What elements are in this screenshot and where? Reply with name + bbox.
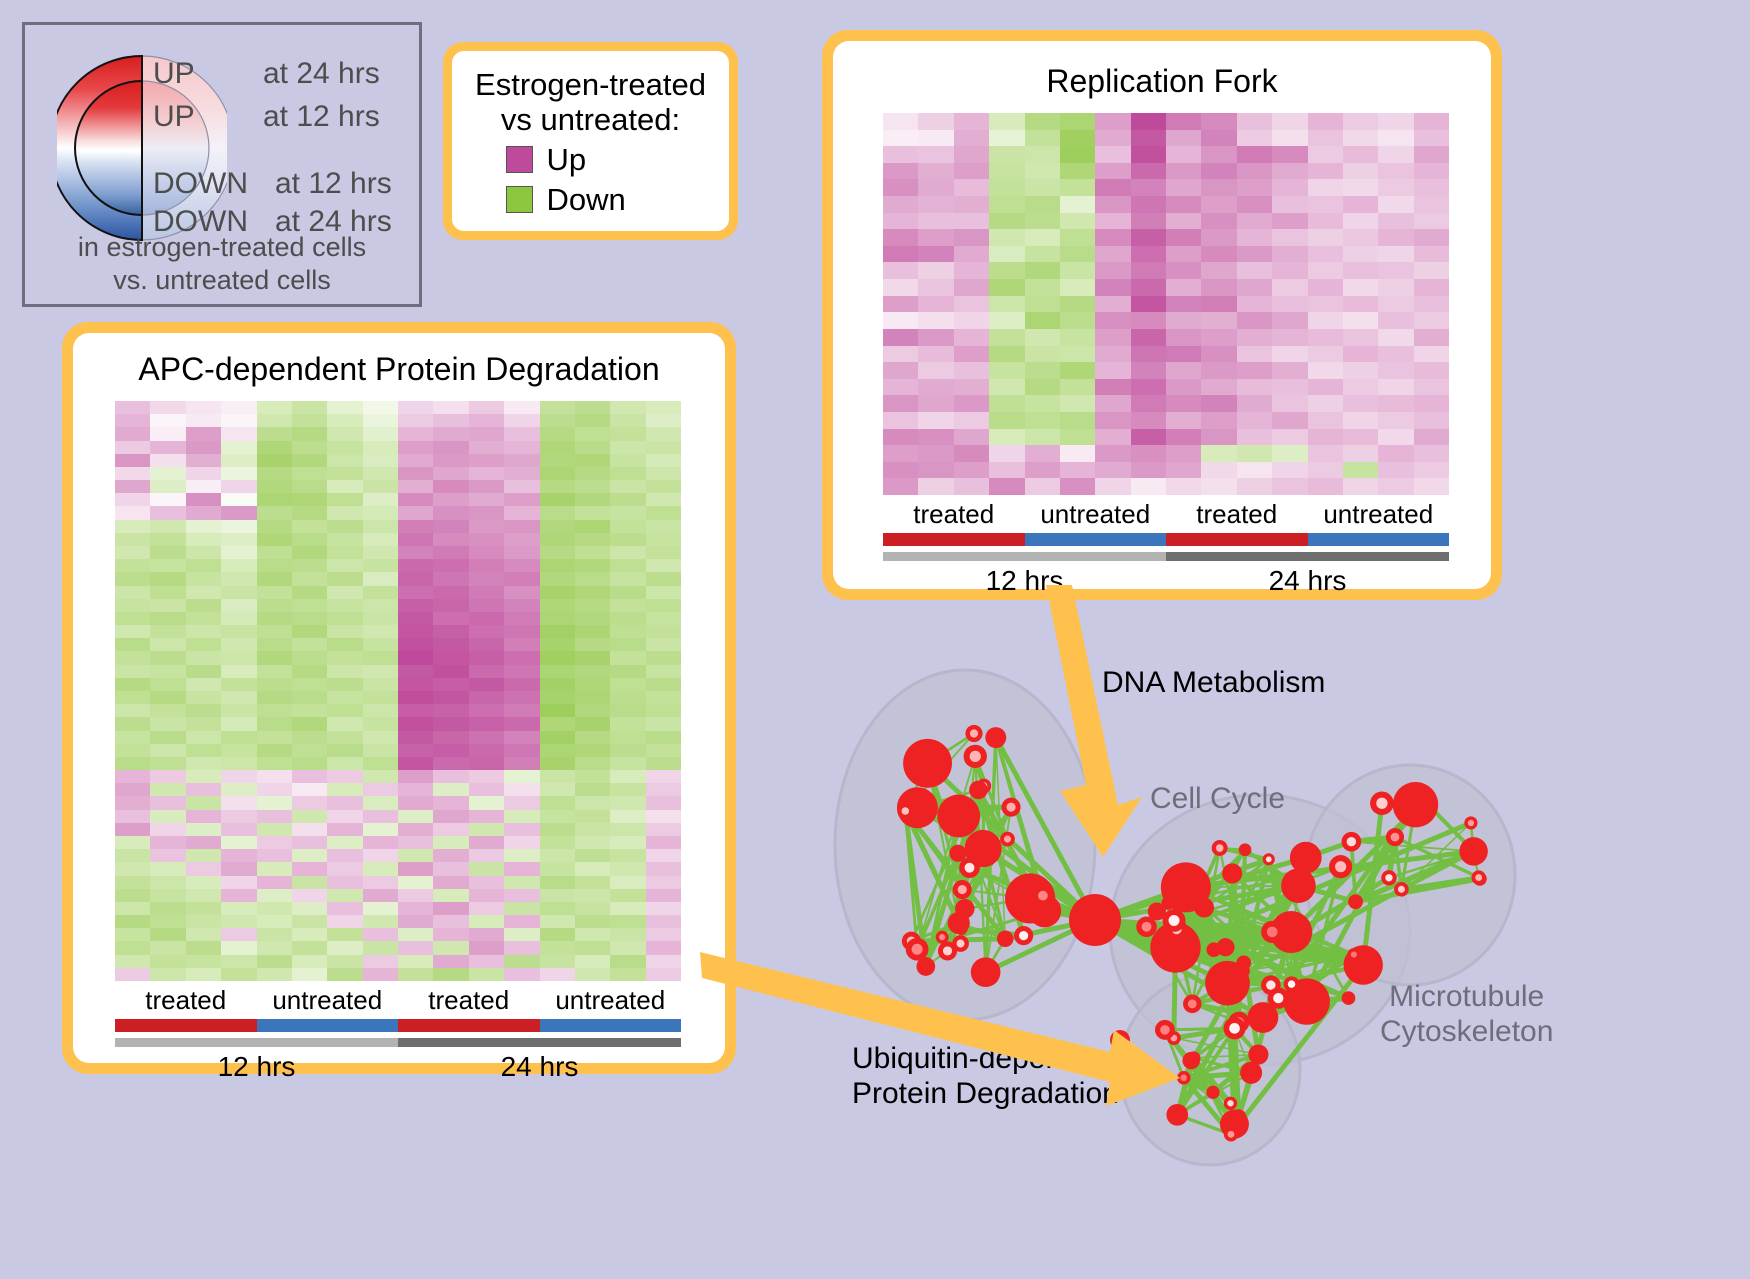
key-state-2: DOWN <box>153 167 248 201</box>
expression-key-legend: UP at 24 hrs UP at 12 hrs DOWN at 12 hrs… <box>22 22 422 307</box>
time-bar-apc <box>115 1038 681 1047</box>
network-node[interactable] <box>1464 816 1477 829</box>
network-node[interactable] <box>1261 921 1283 943</box>
condition-labels-replication-fork: treateduntreatedtreateduntreated <box>883 499 1449 530</box>
network-node[interactable] <box>1291 926 1309 944</box>
condition-label: treated <box>115 985 257 1016</box>
time-label: 12 hrs <box>115 1051 398 1083</box>
up-swatch-icon <box>506 146 533 173</box>
condition-label: treated <box>1166 499 1308 530</box>
network-node[interactable] <box>1290 842 1322 874</box>
time-label: 24 hrs <box>398 1051 681 1083</box>
condition-label: untreated <box>540 985 682 1016</box>
condition-color-bar <box>1025 533 1167 546</box>
down-label: Down <box>547 182 626 218</box>
condition-bar-replication-fork <box>883 533 1449 546</box>
time-color-bar <box>115 1038 398 1047</box>
time-color-bar <box>398 1038 681 1047</box>
arrow-apc-to-network <box>700 930 1230 1110</box>
condition-color-bar <box>1308 533 1450 546</box>
network-node[interactable] <box>1248 1044 1268 1064</box>
key-time-1: at 12 hrs <box>263 100 380 134</box>
network-node[interactable] <box>1235 964 1250 979</box>
time-color-bar <box>1166 552 1449 561</box>
network-node[interactable] <box>1179 896 1192 909</box>
time-color-bar <box>883 552 1166 561</box>
network-node[interactable] <box>1386 828 1404 846</box>
key-footer-line1: in estrogen-treated cells <box>25 231 419 264</box>
network-node[interactable] <box>1394 882 1409 897</box>
condition-bar-apc <box>115 1019 681 1032</box>
condition-color-bar <box>540 1019 682 1032</box>
network-node[interactable] <box>1471 870 1485 884</box>
network-node[interactable] <box>1231 1109 1247 1125</box>
updown-title-line1: Estrogen-treated <box>475 68 706 103</box>
network-node[interactable] <box>1370 791 1394 815</box>
network-node[interactable] <box>1240 1062 1262 1084</box>
network-node[interactable] <box>1194 898 1214 918</box>
network-node[interactable] <box>1263 853 1275 865</box>
condition-label: untreated <box>257 985 399 1016</box>
network-node[interactable] <box>1163 909 1186 932</box>
key-footer: in estrogen-treated cells vs. untreated … <box>25 231 419 297</box>
network-node[interactable] <box>1284 976 1300 992</box>
condition-color-bar <box>1166 533 1308 546</box>
network-node[interactable] <box>1342 832 1362 852</box>
network-node[interactable] <box>903 739 952 788</box>
network-node[interactable] <box>1381 870 1396 885</box>
network-node[interactable] <box>1268 987 1289 1008</box>
heatmap-apc <box>115 401 681 981</box>
condition-color-bar <box>257 1019 399 1032</box>
condition-label: treated <box>883 499 1025 530</box>
network-node[interactable] <box>1329 855 1352 878</box>
network-node[interactable] <box>1281 868 1316 903</box>
key-time-0: at 24 hrs <box>263 57 380 91</box>
network-node[interactable] <box>1033 886 1053 906</box>
network-node[interactable] <box>1418 794 1431 807</box>
legend-item-down: Down <box>506 182 676 218</box>
network-node[interactable] <box>1459 837 1487 865</box>
panel-title-apc: APC-dependent Protein Degradation <box>73 351 725 388</box>
condition-label: treated <box>398 985 540 1016</box>
time-bar-replication-fork <box>883 552 1449 561</box>
network-node[interactable] <box>1342 991 1356 1005</box>
up-down-legend: Estrogen-treated vs untreated: Up Down <box>443 42 738 240</box>
condition-color-bar <box>115 1019 257 1032</box>
condition-color-bar <box>883 533 1025 546</box>
network-node[interactable] <box>1224 1127 1238 1141</box>
network-node[interactable] <box>898 803 914 819</box>
key-state-1: UP <box>153 100 195 134</box>
network-node[interactable] <box>1347 948 1360 961</box>
network-node[interactable] <box>1161 897 1174 910</box>
panel-apc-degradation: APC-dependent Protein Degradation treate… <box>62 322 736 1074</box>
down-swatch-icon <box>506 186 533 213</box>
condition-label: untreated <box>1025 499 1167 530</box>
updown-title-line2: vs untreated: <box>475 103 706 138</box>
network-node[interactable] <box>1348 894 1363 909</box>
network-node[interactable] <box>1393 782 1438 827</box>
condition-color-bar <box>398 1019 540 1032</box>
key-time-2: at 12 hrs <box>275 167 392 201</box>
heatmap-replication-fork <box>883 113 1449 495</box>
panel-title-replication-fork: Replication Fork <box>833 63 1491 100</box>
arrow-replication-fork-to-network <box>960 585 1260 885</box>
panel-replication-fork: Replication Fork treateduntreatedtreated… <box>822 30 1502 600</box>
legend-item-up: Up <box>506 142 676 178</box>
cluster-label-microtubule: Microtubule Cytoskeleton <box>1380 980 1553 1049</box>
condition-labels-apc: treateduntreatedtreateduntreated <box>115 985 681 1016</box>
time-labels-apc: 12 hrs24 hrs <box>115 1051 681 1083</box>
key-state-0: UP <box>153 57 195 91</box>
key-footer-line2: vs. untreated cells <box>25 264 419 297</box>
up-label: Up <box>547 142 587 178</box>
condition-label: untreated <box>1308 499 1450 530</box>
